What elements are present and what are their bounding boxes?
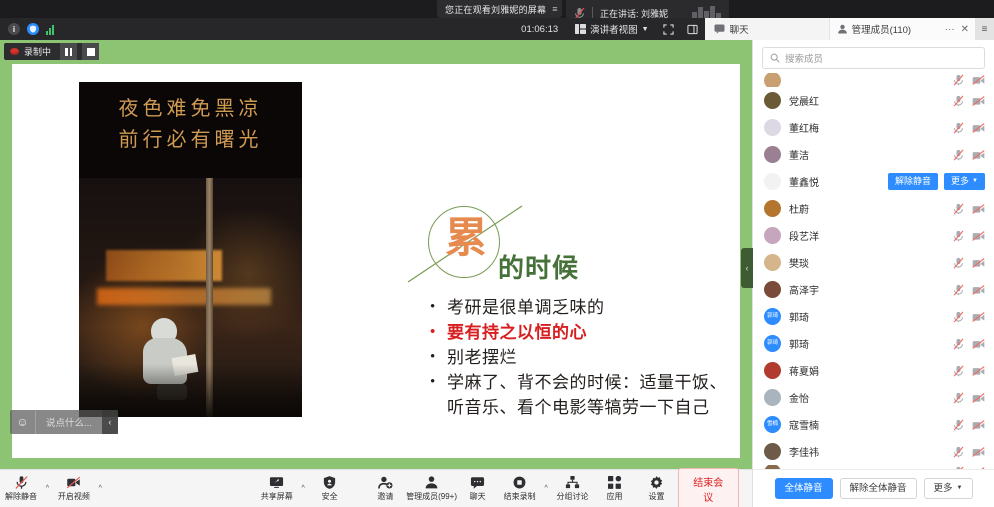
participant-row[interactable]: [753, 465, 994, 469]
meeting-timer: 01:06:13: [512, 24, 567, 35]
participant-row[interactable]: 蒋夏娟: [753, 357, 994, 384]
photo-night-street-scene: [79, 178, 302, 417]
video-off-icon[interactable]: [972, 74, 985, 86]
participant-row[interactable]: 董鑫悦解除静音更多▼: [753, 168, 994, 195]
video-off-icon[interactable]: [972, 419, 985, 431]
bullet-text: 考研是很单调乏味的: [447, 296, 605, 320]
participant-row[interactable]: 樊琰: [753, 249, 994, 276]
participant-row[interactable]: 金怡: [753, 384, 994, 411]
street-glow: [97, 288, 271, 305]
video-off-icon[interactable]: [972, 122, 985, 134]
breakout-rooms-icon: [565, 475, 580, 490]
photo-poem-line-2: 前行必有曙光: [79, 125, 302, 156]
chevron-down-icon: ▼: [957, 485, 963, 492]
share-screen-icon: [269, 475, 284, 490]
pause-recording-button[interactable]: [60, 43, 77, 60]
more-options-icon[interactable]: ···: [945, 24, 955, 35]
mic-off-icon[interactable]: [953, 203, 964, 215]
avatar: 郭琦: [764, 335, 781, 352]
slide-photo: 夜色难免黑凉 前行必有曙光: [79, 82, 302, 417]
gear-icon: [649, 475, 664, 490]
mic-off-icon[interactable]: [953, 257, 964, 269]
video-off-icon[interactable]: [972, 284, 985, 296]
toolbar-item-label: 共享屏幕: [261, 491, 293, 502]
avatar: [764, 146, 781, 163]
viewing-screen-banner[interactable]: 您正在观看刘雅妮的屏幕 ≡: [437, 0, 562, 18]
participants-icon: [424, 475, 439, 490]
participant-row[interactable]: 雪楠寇雪楠: [753, 411, 994, 438]
mute-all-button[interactable]: 全体静音: [775, 478, 833, 499]
bus-window: [106, 250, 222, 281]
unmute-participant-button[interactable]: 解除静音: [888, 173, 938, 189]
participant-name: 董鑫悦: [789, 174, 819, 189]
shield-icon[interactable]: [27, 23, 39, 35]
participant-row[interactable]: 杜蔚: [753, 195, 994, 222]
mic-off-icon[interactable]: [953, 392, 964, 404]
video-off-icon[interactable]: [972, 365, 985, 377]
bullet-dot: •: [430, 321, 447, 344]
panel-more-label: 更多: [934, 483, 953, 494]
participant-row[interactable]: 段艺洋: [753, 222, 994, 249]
video-off-icon[interactable]: [972, 230, 985, 242]
toolbar-chevron-up-icon[interactable]: ^: [541, 469, 552, 507]
toolbar-item-label: 邀请: [377, 491, 393, 502]
toolbar-gear[interactable]: 设置: [636, 470, 678, 507]
chat-input-placeholder[interactable]: 说点什么...: [36, 415, 102, 429]
control-bar-right: 01:06:13 演讲者视图 ▼: [512, 18, 994, 40]
participant-status-icons: [953, 122, 985, 134]
tab-participants[interactable]: 管理成员(110): [829, 18, 939, 40]
bullet-text: 别老摆烂: [447, 346, 517, 370]
panel-more-button[interactable]: 更多 ▼: [924, 478, 973, 499]
toolbar-invite[interactable]: 邀请: [364, 470, 406, 507]
avatar: [764, 92, 781, 109]
security-icon: [322, 475, 337, 490]
toolbar-apps[interactable]: 应用: [594, 470, 636, 507]
bullet-text: 学麻了、背不会的时候：适量干饭、听音乐、看个电影等犒劳一下自己: [447, 371, 740, 419]
toolbar-item-label: 安全: [322, 491, 338, 502]
tab-participants-label: 管理成员(110): [852, 22, 911, 36]
stop-recording-button[interactable]: [82, 43, 99, 60]
participant-row[interactable]: 郭琦郭琦: [753, 330, 994, 357]
menu-icon[interactable]: ≡: [975, 18, 994, 40]
chevron-down-icon: ▼: [642, 26, 649, 33]
toolbar-item-label: 聊天: [470, 491, 486, 502]
avatar: [764, 389, 781, 406]
participant-status-icons: [953, 392, 985, 404]
mic-off-icon[interactable]: [953, 149, 964, 161]
signal-icon[interactable]: [46, 24, 54, 35]
info-icon[interactable]: i: [8, 23, 20, 35]
bullet-dot: •: [430, 346, 447, 369]
sidebar-icon[interactable]: [681, 18, 705, 40]
avatar: 雪楠: [764, 416, 781, 433]
participant-status-icons: [953, 466, 985, 469]
participant-status-icons: [953, 419, 985, 431]
list-icon[interactable]: ≡: [552, 5, 557, 14]
search-wrapper: 搜索成员: [753, 40, 994, 73]
participant-name: 段艺洋: [789, 228, 819, 243]
participant-row[interactable]: [753, 73, 994, 87]
invite-icon: [378, 475, 393, 490]
participant-name: 董洁: [789, 147, 809, 162]
viewing-screen-label: 您正在观看刘雅妮的屏幕: [445, 3, 546, 16]
participant-status-icons: [953, 365, 985, 377]
participant-status-icons: [953, 338, 985, 350]
participant-name: 党晨红: [789, 93, 819, 108]
chevron-down-icon: ▼: [972, 178, 978, 185]
participant-list[interactable]: 党晨红 董红梅 董洁 董鑫悦: [753, 73, 994, 469]
floating-chat-input[interactable]: ☺ 说点什么... ‹: [10, 410, 118, 434]
participant-row[interactable]: 李佳祎: [753, 438, 994, 465]
emoji-icon[interactable]: ☺: [10, 410, 36, 434]
mic-off-icon[interactable]: [953, 230, 964, 242]
toolbar-mic-off[interactable]: 解除静音: [0, 470, 42, 507]
presentation-slide: 夜色难免黑凉 前行必有曙光: [12, 64, 740, 458]
toolbar-chevron-up-icon[interactable]: ^: [298, 469, 309, 507]
toolbar-item-label: 分组讨论: [557, 491, 589, 502]
video-off-icon: [66, 475, 81, 490]
video-off-icon[interactable]: [972, 338, 985, 350]
mic-off-icon[interactable]: [953, 419, 964, 431]
participant-name: 郭琦: [789, 336, 809, 351]
participant-name: 董红梅: [789, 120, 819, 135]
unmute-all-button[interactable]: 解除全体静音: [840, 478, 917, 499]
video-off-icon[interactable]: [972, 446, 985, 458]
participant-name: 高泽宇: [789, 282, 819, 297]
participant-name: 李佳祎: [789, 444, 819, 459]
zoom-meeting-window: 您正在观看刘雅妮的屏幕 ≡ 正在讲话: 刘雅妮 i: [0, 0, 994, 507]
record-stop-icon: [512, 475, 527, 490]
avatar: [764, 173, 781, 190]
search-placeholder: 搜索成员: [785, 51, 823, 65]
slide-bullet-list: • 考研是很单调乏味的 • 要有持之以恒的心 • 别老摆烂 • 学麻了、背不会的…: [430, 296, 740, 421]
toolbar-item-label: 开启视频: [58, 491, 90, 502]
avatar: [764, 119, 781, 136]
speaker-view-icon: [575, 24, 586, 34]
mic-off-icon: [14, 475, 29, 490]
chevron-left-icon[interactable]: ‹: [102, 410, 118, 434]
participant-row[interactable]: 郭琦郭琦: [753, 303, 994, 330]
chat-icon: [714, 24, 725, 34]
mic-off-icon[interactable]: [953, 466, 964, 469]
mic-off-icon[interactable]: [953, 338, 964, 350]
video-off-icon[interactable]: [972, 311, 985, 323]
search-icon: [770, 53, 780, 63]
participant-name: 寇雪楠: [789, 417, 819, 432]
toolbar-chevron-up-icon[interactable]: ^: [42, 469, 53, 507]
chat-icon: [470, 475, 485, 490]
video-off-icon[interactable]: [972, 95, 985, 107]
view-mode-label: 演讲者视图: [590, 22, 638, 36]
video-off-icon[interactable]: [972, 203, 985, 215]
apps-icon: [607, 475, 622, 490]
list-item: • 学麻了、背不会的时候：适量干饭、听音乐、看个电影等犒劳一下自己: [430, 371, 740, 419]
recording-label: 录制中: [24, 45, 55, 58]
toolbar-item-label: 结束录制: [504, 491, 536, 502]
bullet-text: 要有持之以恒的心: [447, 321, 587, 345]
panel-tab-actions: ··· ✕: [939, 18, 975, 40]
video-off-icon[interactable]: [972, 149, 985, 161]
participant-status-icons: [953, 311, 985, 323]
meeting-control-bar: i 01:06:13 演讲者视图 ▼: [0, 18, 994, 40]
participant-status-icons: [953, 284, 985, 296]
avatar: [764, 254, 781, 271]
participant-row[interactable]: 董洁: [753, 141, 994, 168]
participant-row[interactable]: 党晨红: [753, 87, 994, 114]
toolbar-item-label: 设置: [649, 491, 665, 502]
mic-off-icon[interactable]: [953, 446, 964, 458]
participant-name: 蒋夏娟: [789, 363, 819, 378]
toolbar-security[interactable]: 安全: [309, 470, 351, 507]
slide-title-suffix: 的时候: [498, 248, 579, 285]
meeting-toolbar: 解除静音^ 开启视频^ 共享屏幕^ 安全 邀请 管理成员(99+) 聊天结束录制…: [0, 469, 752, 507]
participant-name: 郭琦: [789, 309, 809, 324]
tab-chat[interactable]: 聊天: [705, 18, 829, 40]
chevron-left-icon: ‹: [746, 263, 749, 273]
photo-poem: 夜色难免黑凉 前行必有曙光: [79, 94, 302, 156]
list-item: • 别老摆烂: [430, 346, 740, 370]
mic-off-icon[interactable]: [953, 122, 964, 134]
avatar: [764, 73, 781, 87]
mic-off-icon[interactable]: [953, 74, 964, 86]
share-panel-collapse-button[interactable]: ‹: [741, 248, 753, 288]
toolbar-item-label: 应用: [607, 491, 623, 502]
bullet-dot: •: [430, 371, 447, 394]
mic-off-icon[interactable]: [953, 95, 964, 107]
video-off-icon[interactable]: [972, 392, 985, 404]
toolbar-chat[interactable]: 聊天: [457, 470, 499, 507]
tab-chat-label: 聊天: [730, 22, 749, 36]
fullscreen-icon[interactable]: [657, 18, 681, 40]
recording-indicator: 录制中: [4, 43, 99, 60]
participant-more-label: 更多: [951, 176, 969, 186]
mic-off-icon[interactable]: [953, 311, 964, 323]
participant-status-icons: [953, 74, 985, 86]
list-item: • 考研是很单调乏味的: [430, 296, 740, 320]
participants-panel-footer: 全体静音 解除全体静音 更多 ▼: [753, 469, 994, 507]
participants-panel: 搜索成员 党晨红 董红梅: [752, 40, 994, 507]
status-badges: i: [0, 23, 54, 35]
avatar: [764, 443, 781, 460]
video-off-icon[interactable]: [972, 466, 985, 469]
photo-poem-line-1: 夜色难免黑凉: [79, 94, 302, 125]
toolbar-item-label: 解除静音: [5, 491, 37, 502]
avatar: [764, 362, 781, 379]
toolbar-chevron-up-icon[interactable]: ^: [95, 469, 106, 507]
video-off-icon[interactable]: [972, 257, 985, 269]
participant-name: 金怡: [789, 390, 809, 405]
slide-title-char: 累: [445, 218, 487, 260]
list-item: • 要有持之以恒的心: [430, 321, 740, 345]
slide-title: 累 的时候: [412, 204, 732, 294]
participant-status-icons: [953, 257, 985, 269]
participant-status-icons: [953, 203, 985, 215]
avatar: [764, 281, 781, 298]
toolbar-breakout-rooms[interactable]: 分组讨论: [552, 470, 594, 507]
search-input[interactable]: 搜索成员: [762, 47, 985, 69]
mic-off-icon[interactable]: [953, 284, 964, 296]
shared-screen-area: 录制中 夜色难免黑凉 前行必有曙光: [0, 40, 752, 469]
participant-status-icons: [953, 230, 985, 242]
participants-icon: [837, 24, 848, 34]
avatar: [764, 227, 781, 244]
participant-status-icons: [953, 446, 985, 458]
toolbar-record-stop[interactable]: 结束录制: [499, 470, 541, 507]
toolbar-share-screen[interactable]: 共享屏幕: [256, 470, 298, 507]
toolbar-item-label: 管理成员(99+): [406, 491, 457, 502]
participant-actions: 解除静音更多▼: [888, 173, 985, 189]
end-meeting-button[interactable]: 结束会议: [678, 468, 739, 507]
participant-more-button[interactable]: 更多▼: [944, 173, 985, 189]
participant-row[interactable]: 董红梅: [753, 114, 994, 141]
mic-off-icon[interactable]: [953, 365, 964, 377]
participant-status-icons: [953, 149, 985, 161]
view-mode-select[interactable]: 演讲者视图 ▼: [567, 22, 656, 36]
record-dot-icon: [10, 48, 19, 55]
bullet-dot: •: [430, 296, 447, 319]
close-icon[interactable]: ✕: [961, 24, 969, 35]
participant-name: 樊琰: [789, 255, 809, 270]
toolbar-participants[interactable]: 管理成员(99+): [406, 470, 456, 507]
participant-row[interactable]: 高泽宇: [753, 276, 994, 303]
participant-status-icons: [953, 95, 985, 107]
pause-icon: [65, 48, 72, 56]
stop-icon: [87, 48, 95, 56]
toolbar-video-off[interactable]: 开启视频: [53, 470, 95, 507]
avatar: [764, 465, 781, 469]
avatar: [764, 200, 781, 217]
avatar: 郭琦: [764, 308, 781, 325]
participant-name: 杜蔚: [789, 201, 809, 216]
